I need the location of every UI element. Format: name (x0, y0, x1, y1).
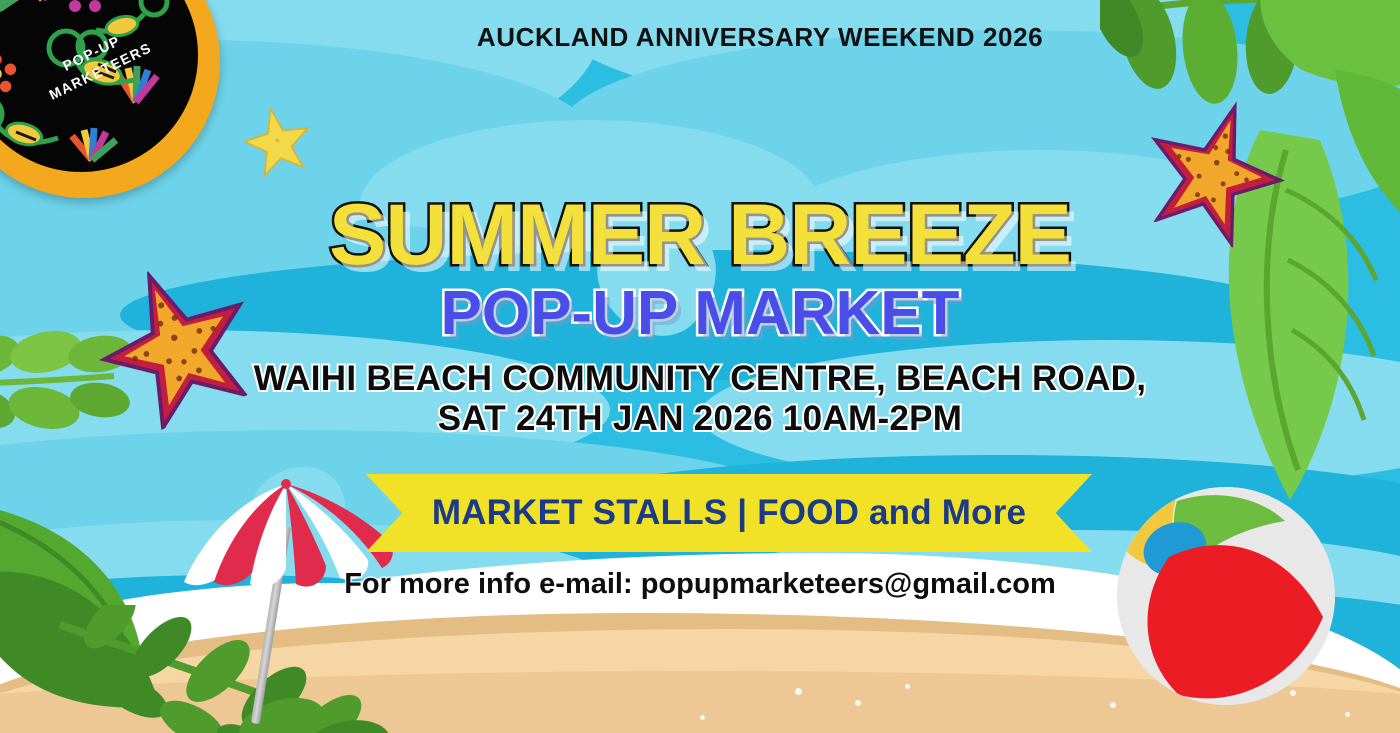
poster-canvas: POP-UP MARKETEERS AUCKLAND ANNIVERSARY W… (0, 0, 1400, 733)
contact-email-line[interactable]: For more info e-mail: popupmarketeers@gm… (0, 568, 1400, 601)
sand-speckle (795, 688, 802, 695)
sand-speckle (1110, 702, 1116, 708)
sand-speckle (1290, 690, 1296, 696)
page-subtitle: POP-UP MARKET (0, 283, 1400, 345)
sand-speckle (855, 700, 861, 706)
event-datetime: SAT 24TH JAN 2026 10AM-2PM (0, 400, 1400, 437)
flower-motif-icon (60, 114, 124, 166)
highlights-ribbon-label: MARKET STALLS | FOOD and More (366, 474, 1092, 552)
venue-address: WAIHI BEACH COMMUNITY CENTRE, BEACH ROAD… (0, 360, 1400, 397)
event-kicker: AUCKLAND ANNIVERSARY WEEKEND 2026 (0, 22, 1400, 53)
sand-speckle (905, 684, 910, 689)
tropical-leaf-icon (1315, 60, 1400, 320)
sand-speckle (700, 715, 705, 720)
sand-speckle (1345, 712, 1350, 717)
page-title: SUMMER BREEZE (0, 192, 1400, 278)
highlights-ribbon: MARKET STALLS | FOOD and More (366, 474, 1092, 552)
